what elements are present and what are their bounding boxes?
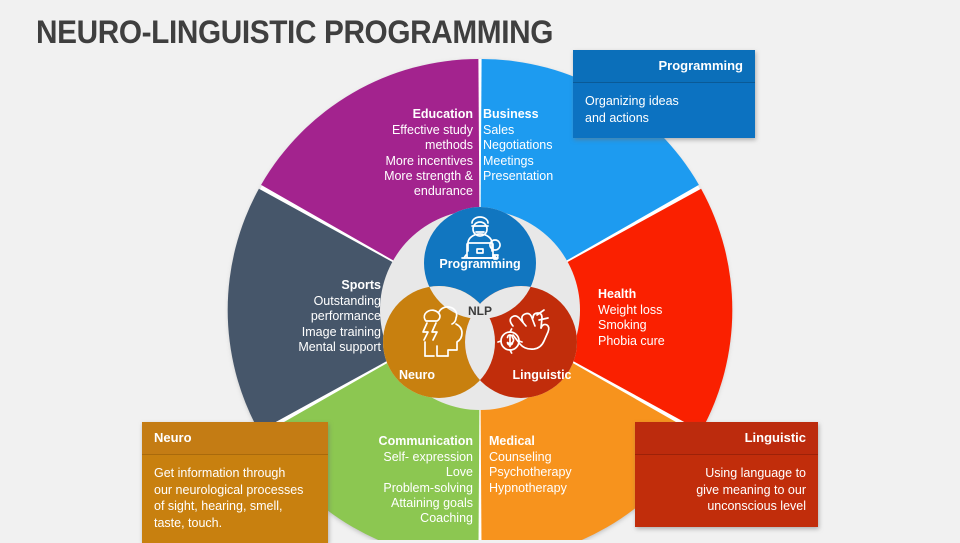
segment-heading-communication: Communication	[327, 434, 473, 449]
segment-body-education: Effective study methods More incentives …	[384, 123, 473, 199]
segment-body-communication: Self- expression Love Problem-solving At…	[383, 450, 473, 526]
core-label-linguistic: Linguistic	[482, 368, 602, 382]
segment-label-sports: SportsOutstanding performance Image trai…	[234, 263, 381, 355]
callout-heading-programming: Programming	[573, 50, 755, 82]
callout-body-neuro: Get information through our neurological…	[142, 455, 328, 543]
callout-body-linguistic: Using language to give meaning to our un…	[635, 455, 818, 527]
segment-body-sports: Outstanding performance Image training M…	[298, 294, 381, 354]
segment-body-health: Weight loss Smoking Phobia cure	[598, 303, 665, 348]
callout-neuro[interactable]: Neuro Get information through our neurol…	[142, 422, 328, 543]
core-label-programming: Programming	[420, 257, 540, 271]
callout-programming[interactable]: Programming Organizing ideas and actions	[573, 50, 755, 138]
segment-heading-health: Health	[598, 287, 748, 302]
slide-canvas: NEURO-LINGUISTIC PROGRAMMING	[0, 0, 960, 540]
segment-heading-education: Education	[323, 107, 473, 122]
segment-label-medical: MedicalCounseling Psychotherapy Hypnothe…	[489, 419, 639, 496]
segment-label-health: HealthWeight loss Smoking Phobia cure	[598, 272, 748, 349]
callout-linguistic[interactable]: Linguistic Using language to give meanin…	[635, 422, 818, 527]
segment-body-medical: Counseling Psychotherapy Hypnotherapy	[489, 450, 572, 495]
segment-heading-sports: Sports	[234, 278, 381, 293]
callout-heading-linguistic: Linguistic	[635, 422, 818, 454]
segment-label-education: EducationEffective study methods More in…	[323, 92, 473, 200]
callout-heading-neuro: Neuro	[142, 422, 328, 454]
segment-body-business: Sales Negotiations Meetings Presentation	[483, 123, 553, 183]
segment-heading-medical: Medical	[489, 434, 639, 449]
segment-label-communication: CommunicationSelf- expression Love Probl…	[327, 419, 473, 527]
core-label-nlp: NLP	[440, 304, 520, 318]
callout-body-programming: Organizing ideas and actions	[573, 83, 755, 138]
core-label-neuro: Neuro	[357, 368, 477, 382]
